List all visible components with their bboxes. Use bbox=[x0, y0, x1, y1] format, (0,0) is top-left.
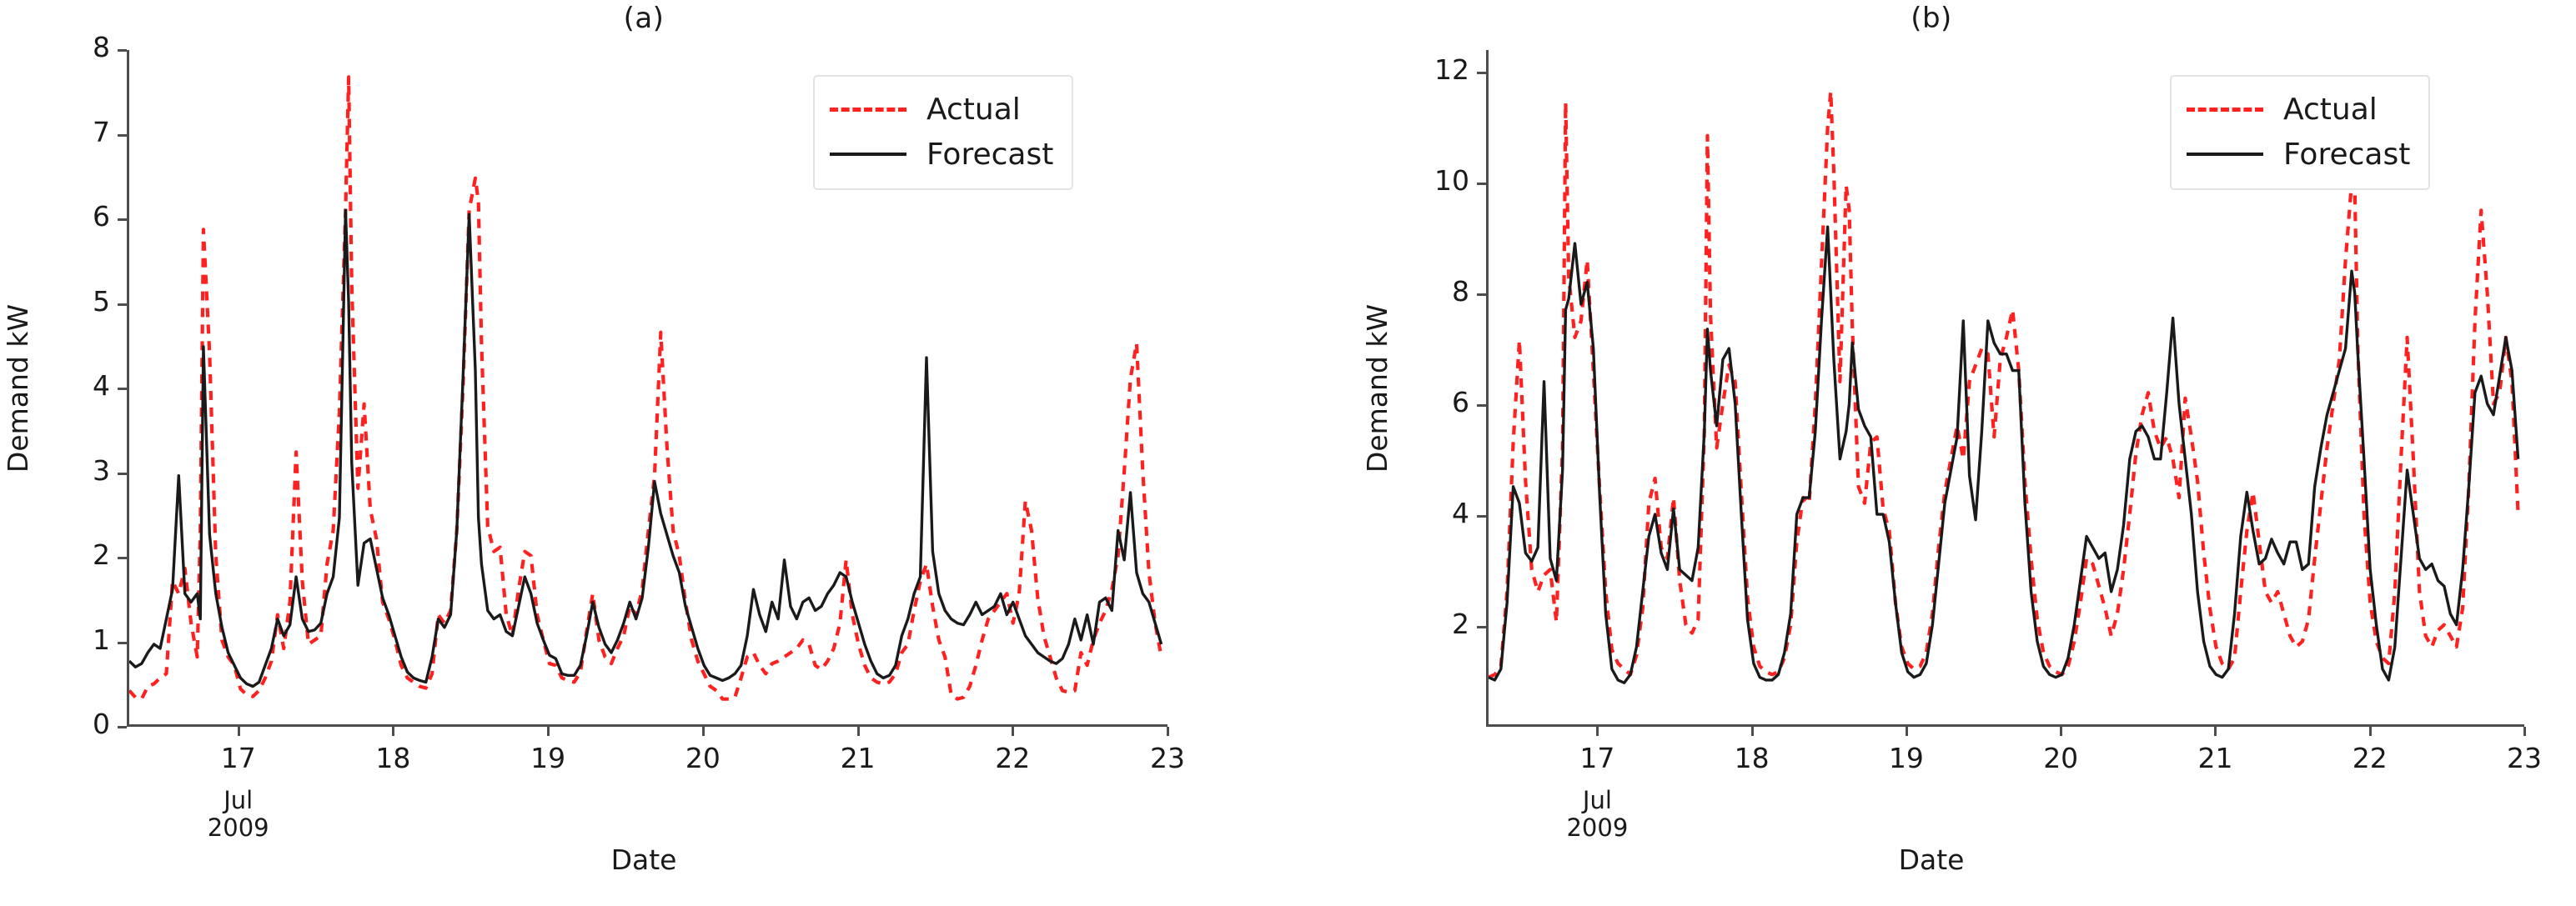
x-axis-date-annotation: Jul2009 bbox=[1539, 787, 1655, 843]
x-axis-tick-label: 19 bbox=[498, 742, 598, 774]
y-axis-tick-label: 12 bbox=[1394, 53, 1469, 86]
x-axis-tick-label: 23 bbox=[1117, 742, 1218, 774]
y-axis-tick-label: 0 bbox=[35, 708, 110, 740]
x-axis-tick-mark bbox=[702, 727, 705, 736]
x-axis-tick-mark bbox=[238, 727, 240, 736]
x-axis-tick-label: 21 bbox=[2165, 742, 2265, 774]
y-axis-tick-label: 6 bbox=[1394, 386, 1469, 418]
y-axis-tick-label: 4 bbox=[1394, 497, 1469, 529]
x-axis-tick-mark bbox=[547, 727, 550, 736]
y-axis-tick-mark bbox=[1477, 515, 1486, 518]
x-axis-tick-label: 17 bbox=[188, 742, 289, 774]
legend-line-forecast-icon bbox=[2187, 153, 2263, 156]
x-axis-tick-mark bbox=[1751, 727, 1754, 736]
x-axis-year-label: 2009 bbox=[1539, 814, 1655, 842]
x-axis-tick-mark bbox=[392, 727, 394, 736]
legend-entry-actual: Actual bbox=[2187, 87, 2410, 132]
y-axis-tick-label: 2 bbox=[1394, 608, 1469, 640]
x-axis-date-annotation: Jul2009 bbox=[180, 787, 297, 843]
panel-a-xlabel: Date bbox=[0, 843, 1288, 876]
x-axis-tick-mark bbox=[1012, 727, 1014, 736]
y-axis-tick-mark bbox=[118, 557, 127, 559]
x-axis-tick-mark bbox=[1906, 727, 1908, 736]
legend-line-actual-icon bbox=[2187, 108, 2263, 112]
x-axis-tick-mark bbox=[1596, 727, 1599, 736]
x-axis-month-label: Jul bbox=[180, 787, 297, 814]
y-axis-tick-mark bbox=[118, 218, 127, 221]
x-axis-tick-label: 23 bbox=[2474, 742, 2574, 774]
y-axis-tick-label: 8 bbox=[1394, 275, 1469, 308]
y-axis-tick-mark bbox=[118, 134, 127, 137]
y-axis-tick-label: 5 bbox=[35, 285, 110, 318]
panel-a: (a) Demand kW Actual Forecast Date 01234… bbox=[0, 0, 1288, 906]
panel-b-xlabel: Date bbox=[1288, 843, 2575, 876]
series-line-forecast bbox=[1489, 227, 2518, 683]
y-axis-tick-mark bbox=[1477, 183, 1486, 185]
panel-b-ylabel: Demand kW bbox=[1361, 222, 1398, 555]
legend-label-actual: Actual bbox=[926, 93, 1021, 127]
legend-label-forecast: Forecast bbox=[926, 138, 1053, 172]
panel-b: (b) Demand kW Actual Forecast Date 24681… bbox=[1288, 0, 2575, 906]
y-axis-tick-label: 4 bbox=[35, 369, 110, 402]
y-axis-tick-mark bbox=[118, 726, 127, 728]
x-axis-tick-mark bbox=[1167, 727, 1169, 736]
panel-a-title: (a) bbox=[0, 2, 1288, 35]
y-axis-tick-mark bbox=[1477, 72, 1486, 74]
y-axis-tick-mark bbox=[1477, 626, 1486, 628]
series-line-forecast bbox=[129, 210, 1162, 686]
panel-b-title: (b) bbox=[1288, 2, 2575, 35]
legend-line-actual-icon bbox=[830, 108, 906, 112]
legend-entry-forecast: Forecast bbox=[830, 132, 1053, 177]
y-axis-tick-mark bbox=[118, 473, 127, 475]
x-axis-tick-label: 20 bbox=[2011, 742, 2111, 774]
x-axis-tick-mark bbox=[2060, 727, 2062, 736]
y-axis-tick-mark bbox=[118, 303, 127, 306]
y-axis-tick-label: 7 bbox=[35, 116, 110, 148]
y-axis-tick-label: 6 bbox=[35, 200, 110, 233]
x-axis-tick-label: 17 bbox=[1547, 742, 1647, 774]
x-axis-tick-label: 22 bbox=[962, 742, 1062, 774]
legend-line-forecast-icon bbox=[830, 153, 906, 156]
y-axis-tick-label: 10 bbox=[1394, 164, 1469, 197]
x-axis-tick-mark bbox=[2214, 727, 2217, 736]
y-axis-tick-label: 2 bbox=[35, 538, 110, 571]
x-axis-tick-label: 18 bbox=[343, 742, 443, 774]
y-axis-tick-mark bbox=[118, 642, 127, 644]
x-axis-month-label: Jul bbox=[1539, 787, 1655, 814]
y-axis-tick-mark bbox=[1477, 404, 1486, 407]
x-axis-tick-mark bbox=[2523, 727, 2526, 736]
legend-label-forecast: Forecast bbox=[2283, 138, 2410, 172]
x-axis-tick-label: 22 bbox=[2320, 742, 2420, 774]
x-axis-tick-label: 21 bbox=[808, 742, 908, 774]
y-axis-tick-mark bbox=[1477, 293, 1486, 296]
x-axis-tick-mark bbox=[857, 727, 860, 736]
y-axis-tick-mark bbox=[118, 49, 127, 52]
x-axis-tick-label: 19 bbox=[1856, 742, 1956, 774]
y-axis-tick-label: 8 bbox=[35, 31, 110, 63]
legend-entry-actual: Actual bbox=[830, 87, 1053, 132]
figure-root: (a) Demand kW Actual Forecast Date 01234… bbox=[0, 0, 2576, 906]
x-axis-tick-label: 20 bbox=[653, 742, 753, 774]
x-axis-tick-mark bbox=[2369, 727, 2372, 736]
x-axis-tick-label: 18 bbox=[1702, 742, 1802, 774]
legend-label-actual: Actual bbox=[2283, 93, 2378, 127]
panel-b-legend: Actual Forecast bbox=[2170, 75, 2430, 190]
y-axis-tick-label: 3 bbox=[35, 454, 110, 487]
x-axis-year-label: 2009 bbox=[180, 814, 297, 842]
legend-entry-forecast: Forecast bbox=[2187, 132, 2410, 177]
y-axis-tick-label: 1 bbox=[35, 623, 110, 656]
y-axis-tick-mark bbox=[118, 388, 127, 390]
panel-a-ylabel: Demand kW bbox=[2, 222, 38, 555]
panel-a-legend: Actual Forecast bbox=[813, 75, 1073, 190]
